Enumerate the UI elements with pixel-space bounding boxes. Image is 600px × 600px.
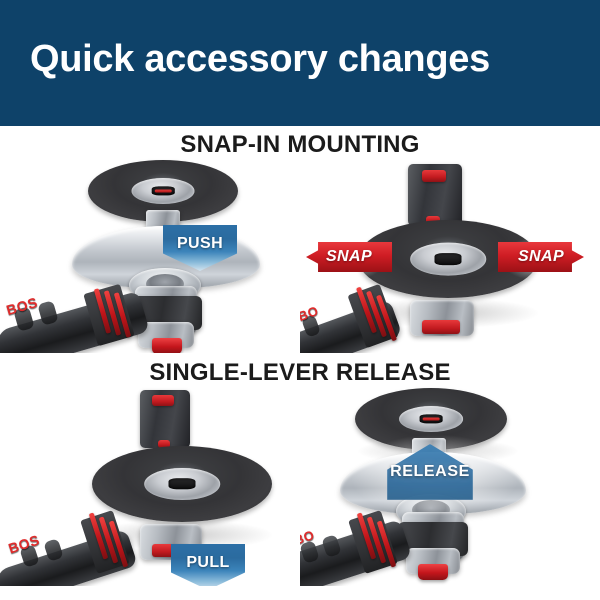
section-title-single-lever-release: SINGLE-LEVER RELEASE (0, 359, 600, 387)
snap-badge-label: SNAP (518, 248, 564, 266)
grinder-illustration-snap: BO SNAP SNAP (300, 158, 600, 353)
pull-badge: PULL (171, 544, 245, 586)
panel-push: BOS PUSH (0, 158, 300, 353)
panel-snap: BO SNAP SNAP (300, 158, 600, 353)
battery-indicator (422, 170, 446, 182)
push-badge-label: PUSH (177, 235, 223, 253)
grinder-illustration-pull: BOS PULL (0, 386, 300, 586)
header-banner: Quick accessory changes (0, 0, 600, 126)
snap-badge-left: SNAP (306, 242, 392, 272)
grinder-illustration-push: BOS PUSH (0, 158, 300, 353)
panel-pull: BOS PULL (0, 386, 300, 586)
disc-hub (435, 253, 462, 265)
abrasive-disc-mounted (92, 446, 272, 522)
snap-badge-label: SNAP (326, 248, 372, 266)
section-title-snap-in-mounting: SNAP-IN MOUNTING (0, 131, 600, 159)
page-title: Quick accessory changes (30, 38, 490, 81)
battery-indicator (152, 395, 174, 406)
poster-canvas: Quick accessory changes SNAP-IN MOUNTING (0, 0, 600, 600)
disc-hub-marker (423, 417, 440, 420)
release-lever (152, 338, 182, 353)
snap-badge-right: SNAP (498, 242, 584, 272)
grinder-illustration-release: BO RELEASE (300, 386, 600, 586)
disc-hub (169, 478, 196, 489)
pull-badge-label: PULL (186, 554, 229, 572)
disc-hub-marker (155, 189, 172, 192)
release-badge: RELEASE (370, 444, 490, 500)
release-badge-label: RELEASE (390, 463, 470, 481)
release-lever (422, 320, 460, 334)
panel-release: BO RELEASE (300, 386, 600, 586)
release-lever (418, 564, 448, 580)
